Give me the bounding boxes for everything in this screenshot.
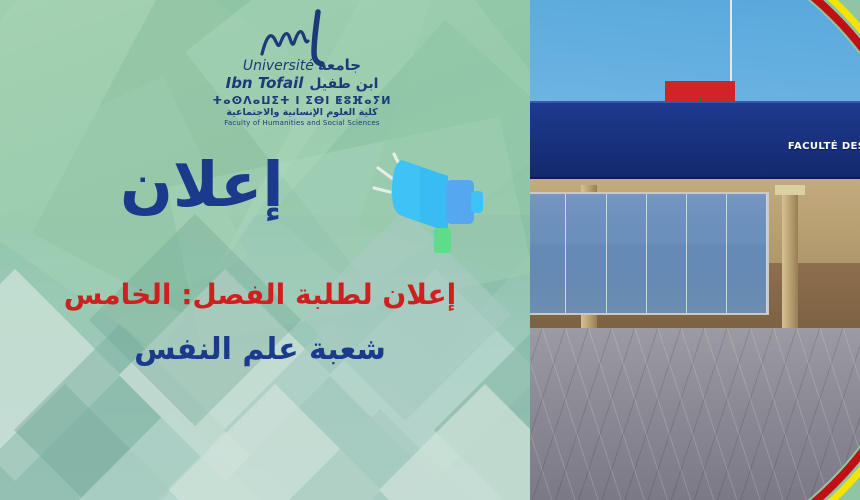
logo-line-two: Ibn Tofail ابن طفيل (202, 74, 402, 92)
logo-line-one: Université جامعة (202, 56, 402, 74)
logo-french-name: Ibn Tofail (226, 74, 304, 92)
building-photo-region: كلية العلوم الإنسانية و الاجتماعية FACUL… (530, 0, 860, 500)
logo-english-faculty: Faculty of Humanities and Social Science… (202, 119, 402, 127)
logo-arabic-name: ابن طفيل (309, 76, 378, 92)
red-arc-accent (530, 0, 860, 500)
headline-announcement: إعلان (120, 148, 284, 221)
logo-french-university: Université (243, 58, 314, 74)
megaphone-icon (372, 150, 492, 255)
announcement-department-line: شعبة علم النفس (0, 332, 520, 367)
logo-arabic-faculty: كلية العلوم الإنسانية والاجتماعية (202, 107, 402, 118)
logo-arabic-university: جامعة (318, 56, 361, 74)
university-logo: Université جامعة Ibn Tofail ابن طفيل ⵜⴰⵙ… (202, 8, 402, 133)
announcement-poster: كلية العلوم الإنسانية و الاجتماعية FACUL… (0, 0, 860, 500)
announcement-target-line: إعلان لطلبة الفصل: الخامس (0, 278, 520, 311)
logo-tifinagh-text: ⵜⴰⵙⴷⴰⵡⵉⵜ ⵏ ⵉⴱⵏ ⵟⵓⴼⴰⵢⵍ (202, 94, 402, 107)
